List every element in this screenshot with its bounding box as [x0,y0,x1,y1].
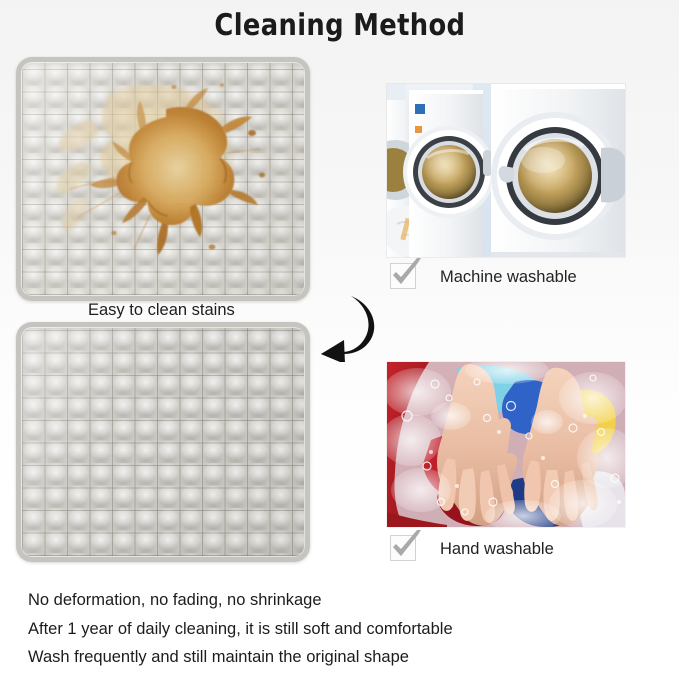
clean-mat-image [16,322,310,562]
machine-washable-checkbox[interactable] [390,263,418,291]
machine-washable-label: Machine washable [440,268,577,287]
curved-arrow-icon [307,294,377,362]
hand-washable-row: Hand washable [390,535,554,563]
hand-washable-label: Hand washable [440,540,554,559]
feature-text-block: No deformation, no fading, no shrinkage … [28,586,628,672]
checkmark-icon [388,529,424,565]
mat-quilt-stitching [22,63,304,295]
checkmark-icon [388,257,424,293]
washing-machines-photo [387,84,625,257]
mat-quilt-texture [22,63,304,295]
stained-mat-caption: Easy to clean stains [88,301,235,320]
feature-line: Wash frequently and still maintain the o… [28,643,628,672]
mat-quilt-stitching [22,328,304,556]
mat-quilt-texture [22,328,304,556]
feature-line: After 1 year of daily cleaning, it is st… [28,615,628,644]
machine-washable-row: Machine washable [390,263,577,291]
infographic-page: Cleaning Method [0,0,679,674]
feature-line: No deformation, no fading, no shrinkage [28,586,628,615]
stained-mat-image [16,57,310,301]
page-title-bar: Cleaning Method [0,0,679,50]
page-title: Cleaning Method [214,8,465,43]
hand-washable-checkbox[interactable] [390,535,418,563]
hand-washing-photo [387,362,625,527]
